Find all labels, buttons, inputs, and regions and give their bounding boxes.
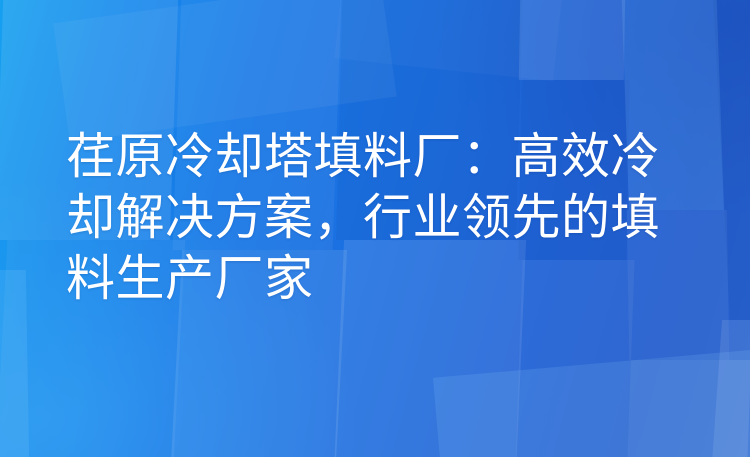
title-line-2: 却解决方案，行业领先的填 [66,187,706,248]
promo-banner: 荏原冷却塔填料厂：高效冷 却解决方案，行业领先的填 料生产厂家 [0,0,750,457]
background-panel-3 [0,270,30,457]
title-line-1: 荏原冷却塔填料厂：高效冷 [66,126,706,187]
banner-title: 荏原冷却塔填料厂：高效冷 却解决方案，行业领先的填 料生产厂家 [66,126,706,309]
title-line-3: 料生产厂家 [66,248,706,309]
